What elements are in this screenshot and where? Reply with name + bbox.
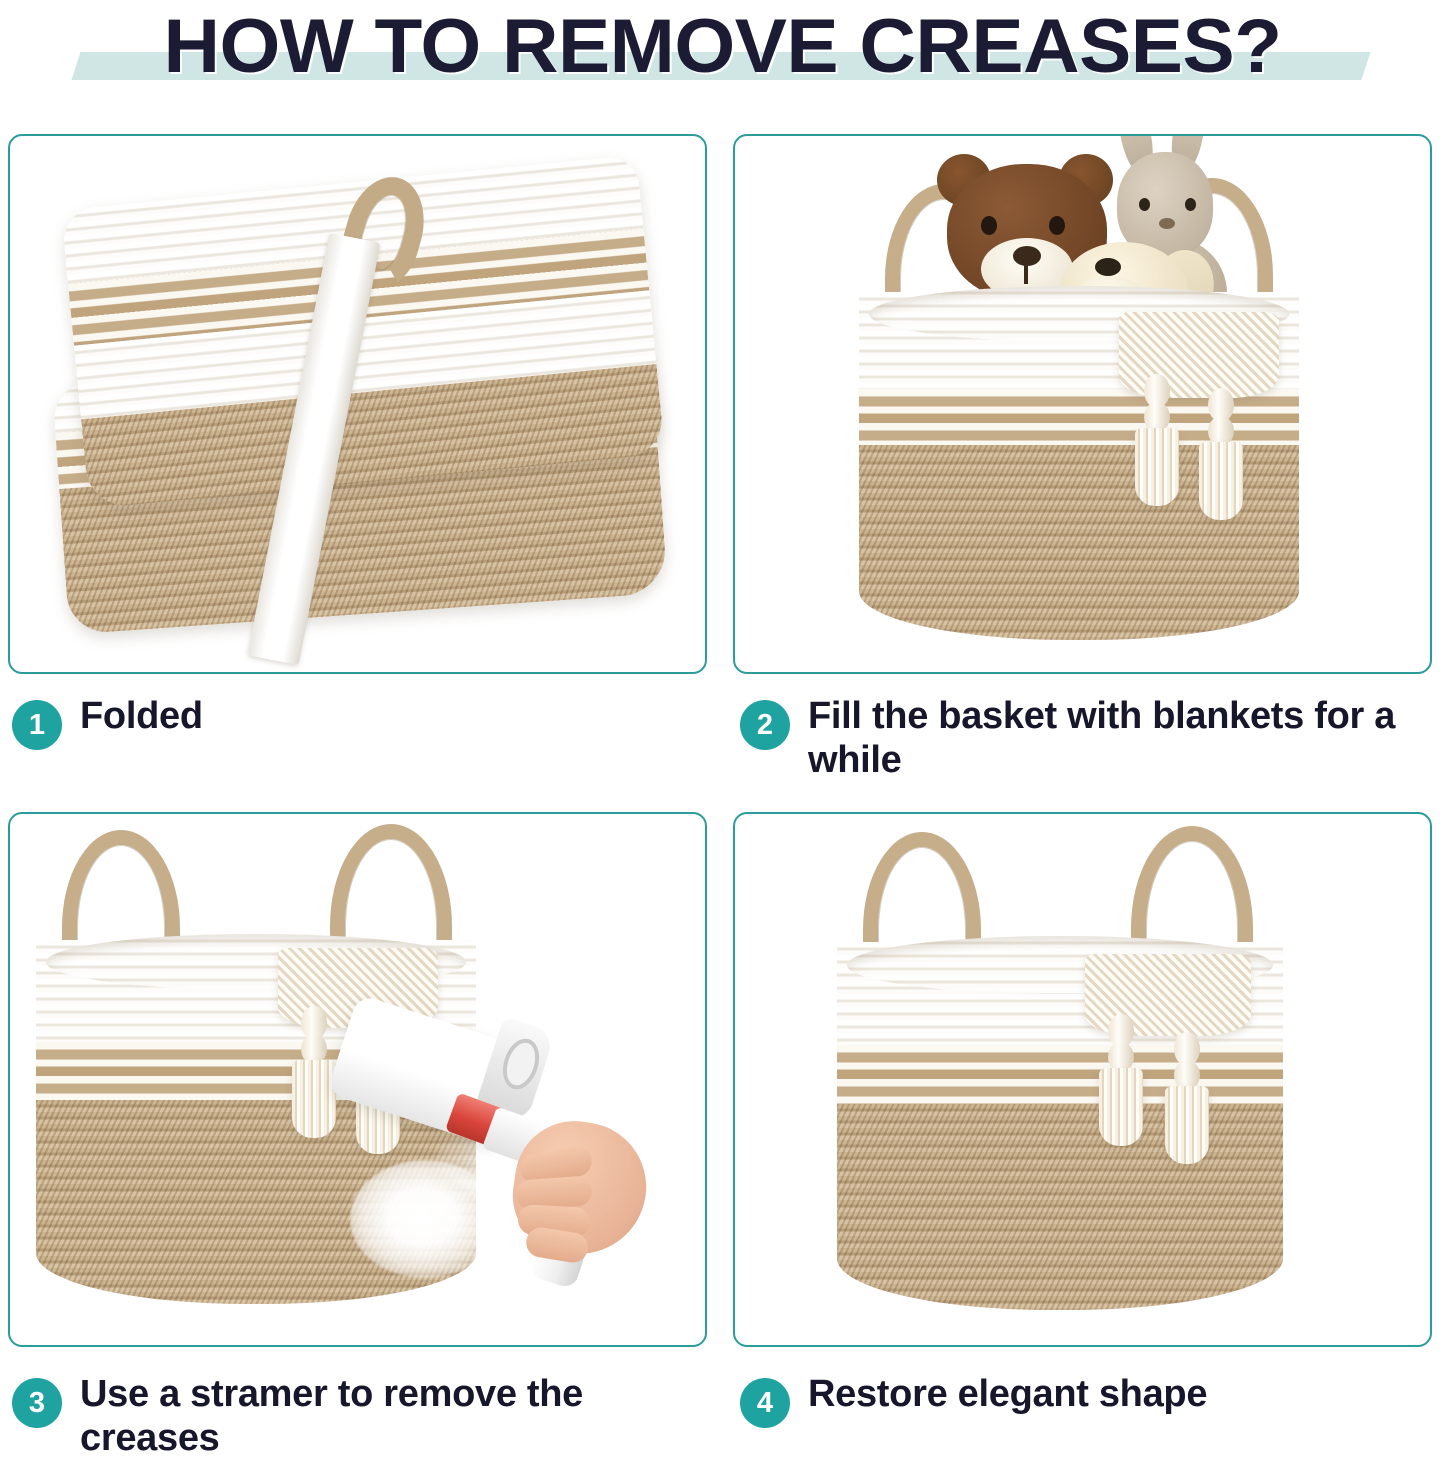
- folded-basket-illustration: [10, 136, 705, 672]
- knit-trim: [1119, 312, 1279, 398]
- step-4-number-badge: 4: [740, 1378, 790, 1428]
- step-3-panel-border: [8, 812, 707, 1347]
- bear-eye-left: [981, 216, 997, 235]
- step-2-panel-border: [733, 134, 1432, 674]
- step-1-number-badge: 1: [12, 700, 62, 750]
- step-3-caption-text: Use a stramer to remove the creases: [80, 1372, 702, 1458]
- rabbit-eye-left: [1139, 198, 1150, 211]
- rabbit-eye-right: [1185, 198, 1196, 211]
- garment-steamer-with-hand: [338, 1010, 668, 1310]
- tassel-group: [1065, 954, 1275, 1184]
- step-1-panel-border: [8, 134, 707, 674]
- restored-basket-illustration: [735, 814, 1430, 1345]
- basket-with-toys-illustration: [735, 136, 1430, 672]
- step-4-panel-border: [733, 812, 1432, 1347]
- infographic-page: HOW TO REMOVE CREASES?: [0, 0, 1445, 1458]
- step-3-caption-row: 3 Use a stramer to remove the creases: [12, 1372, 702, 1458]
- step-1-caption-row: 1 Folded: [12, 694, 702, 750]
- step-1-caption-text: Folded: [80, 694, 203, 738]
- step-4-image-panel: [733, 812, 1432, 1347]
- step-3-image-panel: [8, 812, 707, 1347]
- rabbit-nose: [1159, 218, 1175, 229]
- step-4-caption-row: 4 Restore elegant shape: [740, 1372, 1440, 1428]
- step-2-caption-text: Fill the basket with blankets for a whil…: [808, 694, 1440, 782]
- bear-eye-right: [1049, 216, 1065, 235]
- steaming-basket-illustration: [10, 814, 705, 1345]
- step-1-image-panel: [8, 134, 707, 674]
- tassel-group: [1095, 312, 1295, 532]
- step-2-number-badge: 2: [740, 700, 790, 750]
- bear-mouth: [1024, 264, 1028, 284]
- bear-nose: [1013, 246, 1041, 266]
- step-4-caption-text: Restore elegant shape: [808, 1372, 1207, 1416]
- step-2-caption-row: 2 Fill the basket with blankets for a wh…: [740, 694, 1440, 782]
- step-3-number-badge: 3: [12, 1378, 62, 1428]
- step-2-image-panel: [733, 134, 1432, 674]
- dog-eye: [1095, 258, 1121, 276]
